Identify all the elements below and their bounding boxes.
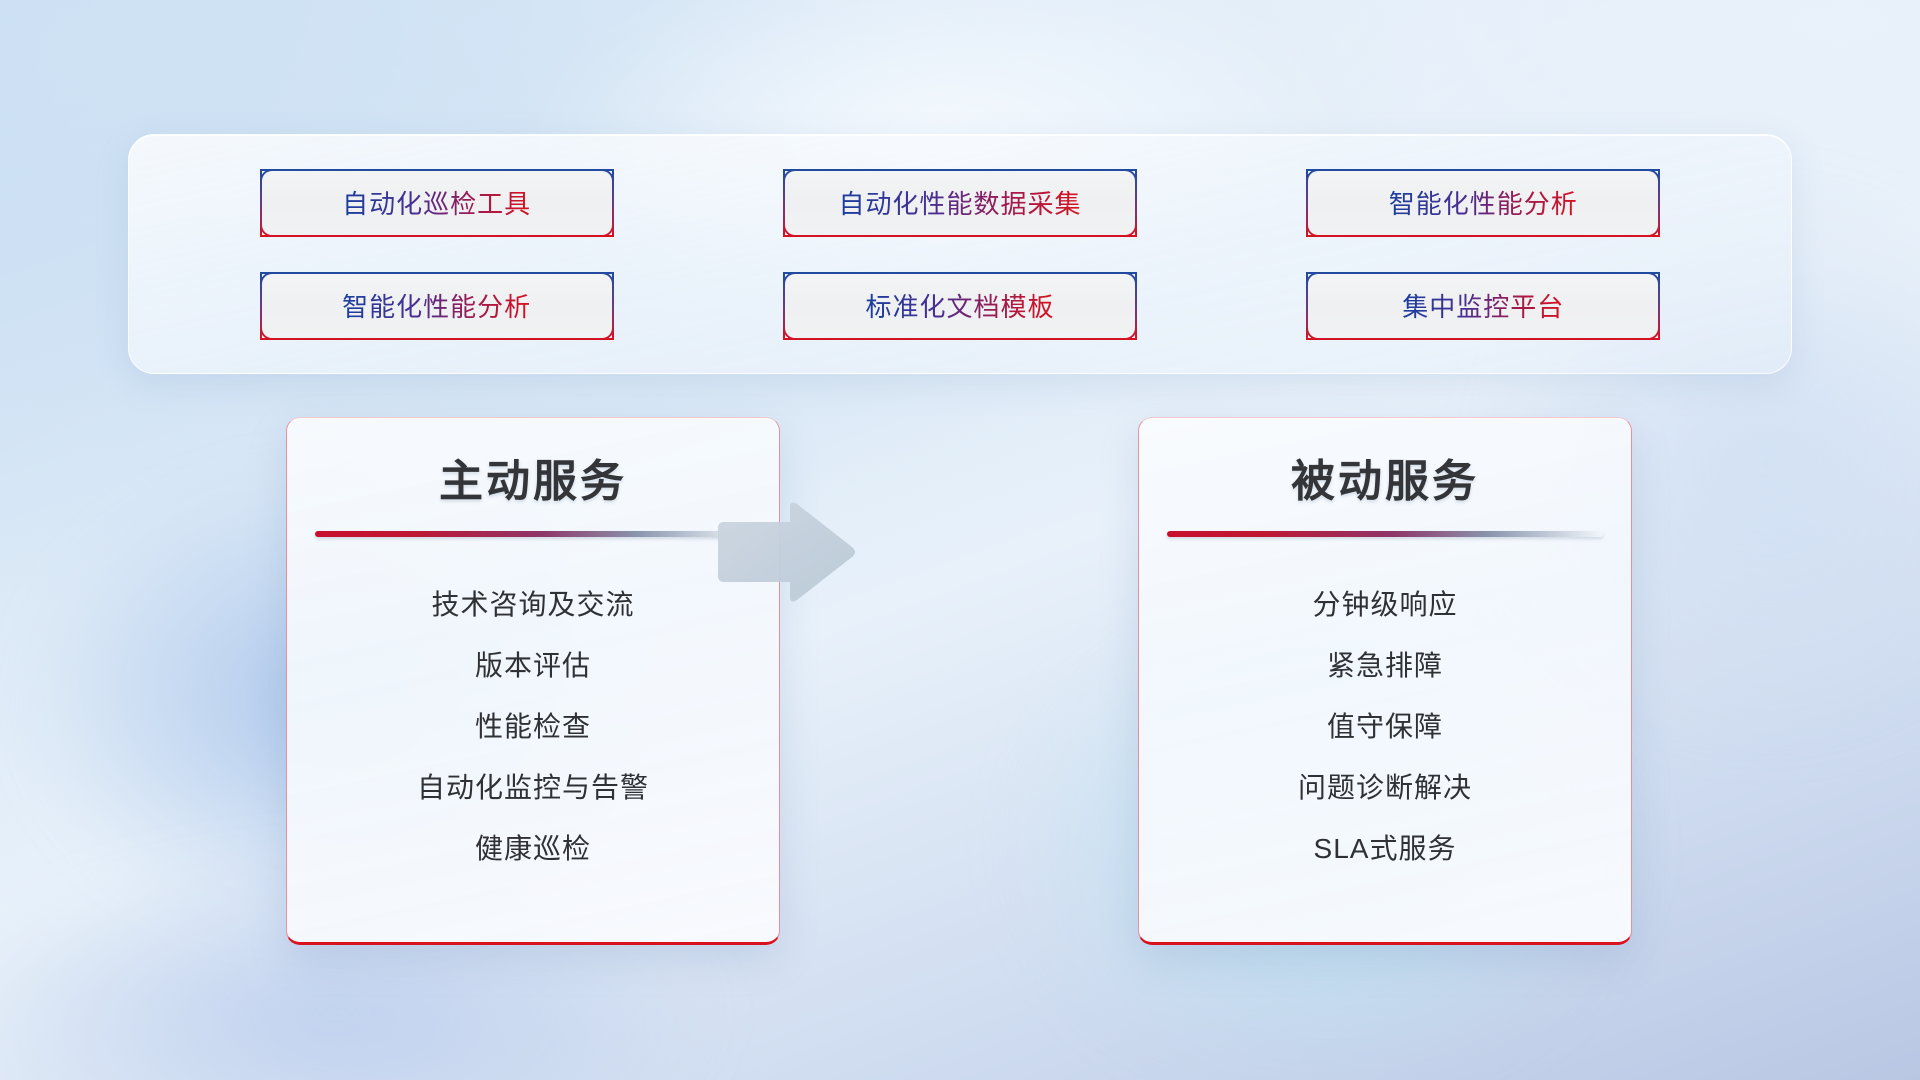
capability-pill-label: 智能化性能分析 xyxy=(1389,184,1578,221)
title-divider xyxy=(315,531,751,537)
service-item: 问题诊断解决 xyxy=(1298,758,1472,819)
capability-pill-label: 集中监控平台 xyxy=(1402,287,1564,324)
capability-pill-6[interactable]: 集中监控平台 xyxy=(1306,272,1660,340)
capability-pill-4[interactable]: 智能化性能分析 xyxy=(260,272,614,340)
service-item-list: 分钟级响应 紧急排障 值守保障 问题诊断解决 SLA式服务 xyxy=(1169,575,1601,880)
service-item: 健康巡检 xyxy=(475,819,591,880)
capability-pill-label: 自动化性能数据采集 xyxy=(838,184,1081,221)
service-item: 值守保障 xyxy=(1327,697,1443,758)
right-arrow-icon xyxy=(712,500,857,605)
title-divider xyxy=(1167,531,1603,537)
service-card-active: 主动服务 技术咨询及交流 版本评估 性能检查 自动化监控与告警 健康巡检 xyxy=(286,417,780,945)
service-item: 版本评估 xyxy=(475,636,591,697)
service-card-passive: 被动服务 分钟级响应 紧急排障 值守保障 问题诊断解决 SLA式服务 xyxy=(1138,417,1632,945)
service-item-list: 技术咨询及交流 版本评估 性能检查 自动化监控与告警 健康巡检 xyxy=(317,575,749,880)
service-item: SLA式服务 xyxy=(1314,819,1457,880)
service-item: 性能检查 xyxy=(475,697,591,758)
capability-pill-label: 智能化性能分析 xyxy=(342,287,531,324)
capability-panel: 自动化巡检工具 自动化性能数据采集 智能化性能分析 智能化性能分析 标准化文档模… xyxy=(128,134,1792,374)
capability-pill-1[interactable]: 自动化巡检工具 xyxy=(260,169,614,237)
card-title: 被动服务 xyxy=(1291,454,1479,509)
capability-pill-5[interactable]: 标准化文档模板 xyxy=(783,272,1137,340)
service-item: 自动化监控与告警 xyxy=(417,758,649,819)
capability-pill-label: 自动化巡检工具 xyxy=(342,184,531,221)
service-item: 分钟级响应 xyxy=(1312,575,1457,636)
service-item: 技术咨询及交流 xyxy=(431,575,634,636)
capability-pill-2[interactable]: 自动化性能数据采集 xyxy=(783,169,1137,237)
card-title: 主动服务 xyxy=(439,454,627,509)
capability-pill-3[interactable]: 智能化性能分析 xyxy=(1306,169,1660,237)
capability-pill-label: 标准化文档模板 xyxy=(865,287,1054,324)
service-item: 紧急排障 xyxy=(1327,636,1443,697)
